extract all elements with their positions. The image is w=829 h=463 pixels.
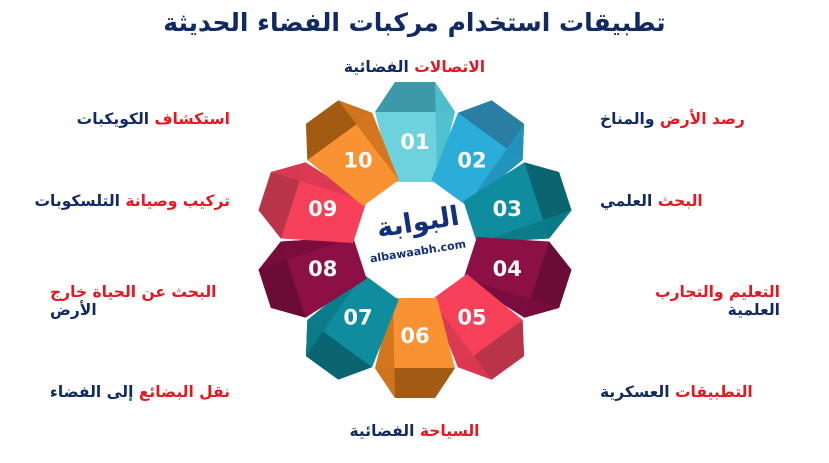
petal-label-05: التطبيقات العسكرية bbox=[600, 383, 753, 401]
petal-label-09: تركيب وصيانة التلسكوبات bbox=[34, 192, 230, 210]
infographic-canvas: تطبيقات استخدام مركبات الفضاء الحديثة 01… bbox=[0, 0, 829, 463]
label-primary-text: البحث bbox=[658, 192, 703, 210]
petal-number: 06 bbox=[400, 324, 429, 348]
petal-label-07: نقل البضائع إلى الفضاء bbox=[50, 383, 230, 401]
label-secondary-text: والمناخ bbox=[600, 110, 654, 128]
petal-number: 01 bbox=[400, 130, 429, 154]
label-secondary-text: التلسكوبات bbox=[34, 192, 120, 210]
label-primary-text: التطبيقات bbox=[675, 383, 753, 401]
petal-number: 05 bbox=[457, 305, 486, 329]
label-secondary-text: إلى الفضاء bbox=[50, 383, 134, 401]
petal-label-02: رصد الأرض والمناخ bbox=[600, 110, 745, 128]
label-secondary-text: الكويكبات bbox=[77, 110, 149, 128]
label-primary-text: السياحة bbox=[420, 422, 480, 440]
label-primary-text: رصد الأرض bbox=[660, 110, 745, 128]
petal-label-01: الاتصالات الفضائية bbox=[0, 58, 829, 76]
petal-label-04: التعليم والتجاربالعلمية bbox=[595, 283, 780, 320]
petal-number: 10 bbox=[343, 149, 372, 173]
label-secondary-text: العسكرية bbox=[600, 383, 670, 401]
petal-number: 09 bbox=[308, 197, 337, 221]
petal-number: 02 bbox=[457, 149, 486, 173]
petal-number: 03 bbox=[493, 197, 522, 221]
label-primary-text: الاتصالات bbox=[414, 58, 485, 76]
petal-number: 04 bbox=[493, 257, 522, 281]
label-secondary-text: الأرض bbox=[50, 301, 97, 319]
label-secondary-text: العلمي bbox=[600, 192, 652, 210]
petal-number: 07 bbox=[343, 305, 372, 329]
label-primary-text: تركيب وصيانة bbox=[125, 192, 230, 210]
label-secondary-text: الفضائية bbox=[344, 58, 409, 76]
label-primary-text: البحث عن الحياة خارج bbox=[50, 283, 216, 301]
label-primary-text: التعليم والتجارب bbox=[655, 283, 780, 301]
petal-label-06: السياحة الفضائية bbox=[0, 422, 829, 440]
petal-label-03: البحث العلمي bbox=[600, 192, 703, 210]
label-primary-text: نقل البضائع bbox=[139, 383, 230, 401]
label-primary-text: استكشاف bbox=[155, 110, 231, 128]
label-secondary-text: الفضائية bbox=[350, 422, 415, 440]
label-secondary-text: العلمية bbox=[728, 301, 780, 319]
petal-label-10: استكشاف الكويكبات bbox=[77, 110, 230, 128]
petal-label-08: البحث عن الحياة خارجالأرض bbox=[50, 283, 235, 320]
petal-number: 08 bbox=[308, 257, 337, 281]
